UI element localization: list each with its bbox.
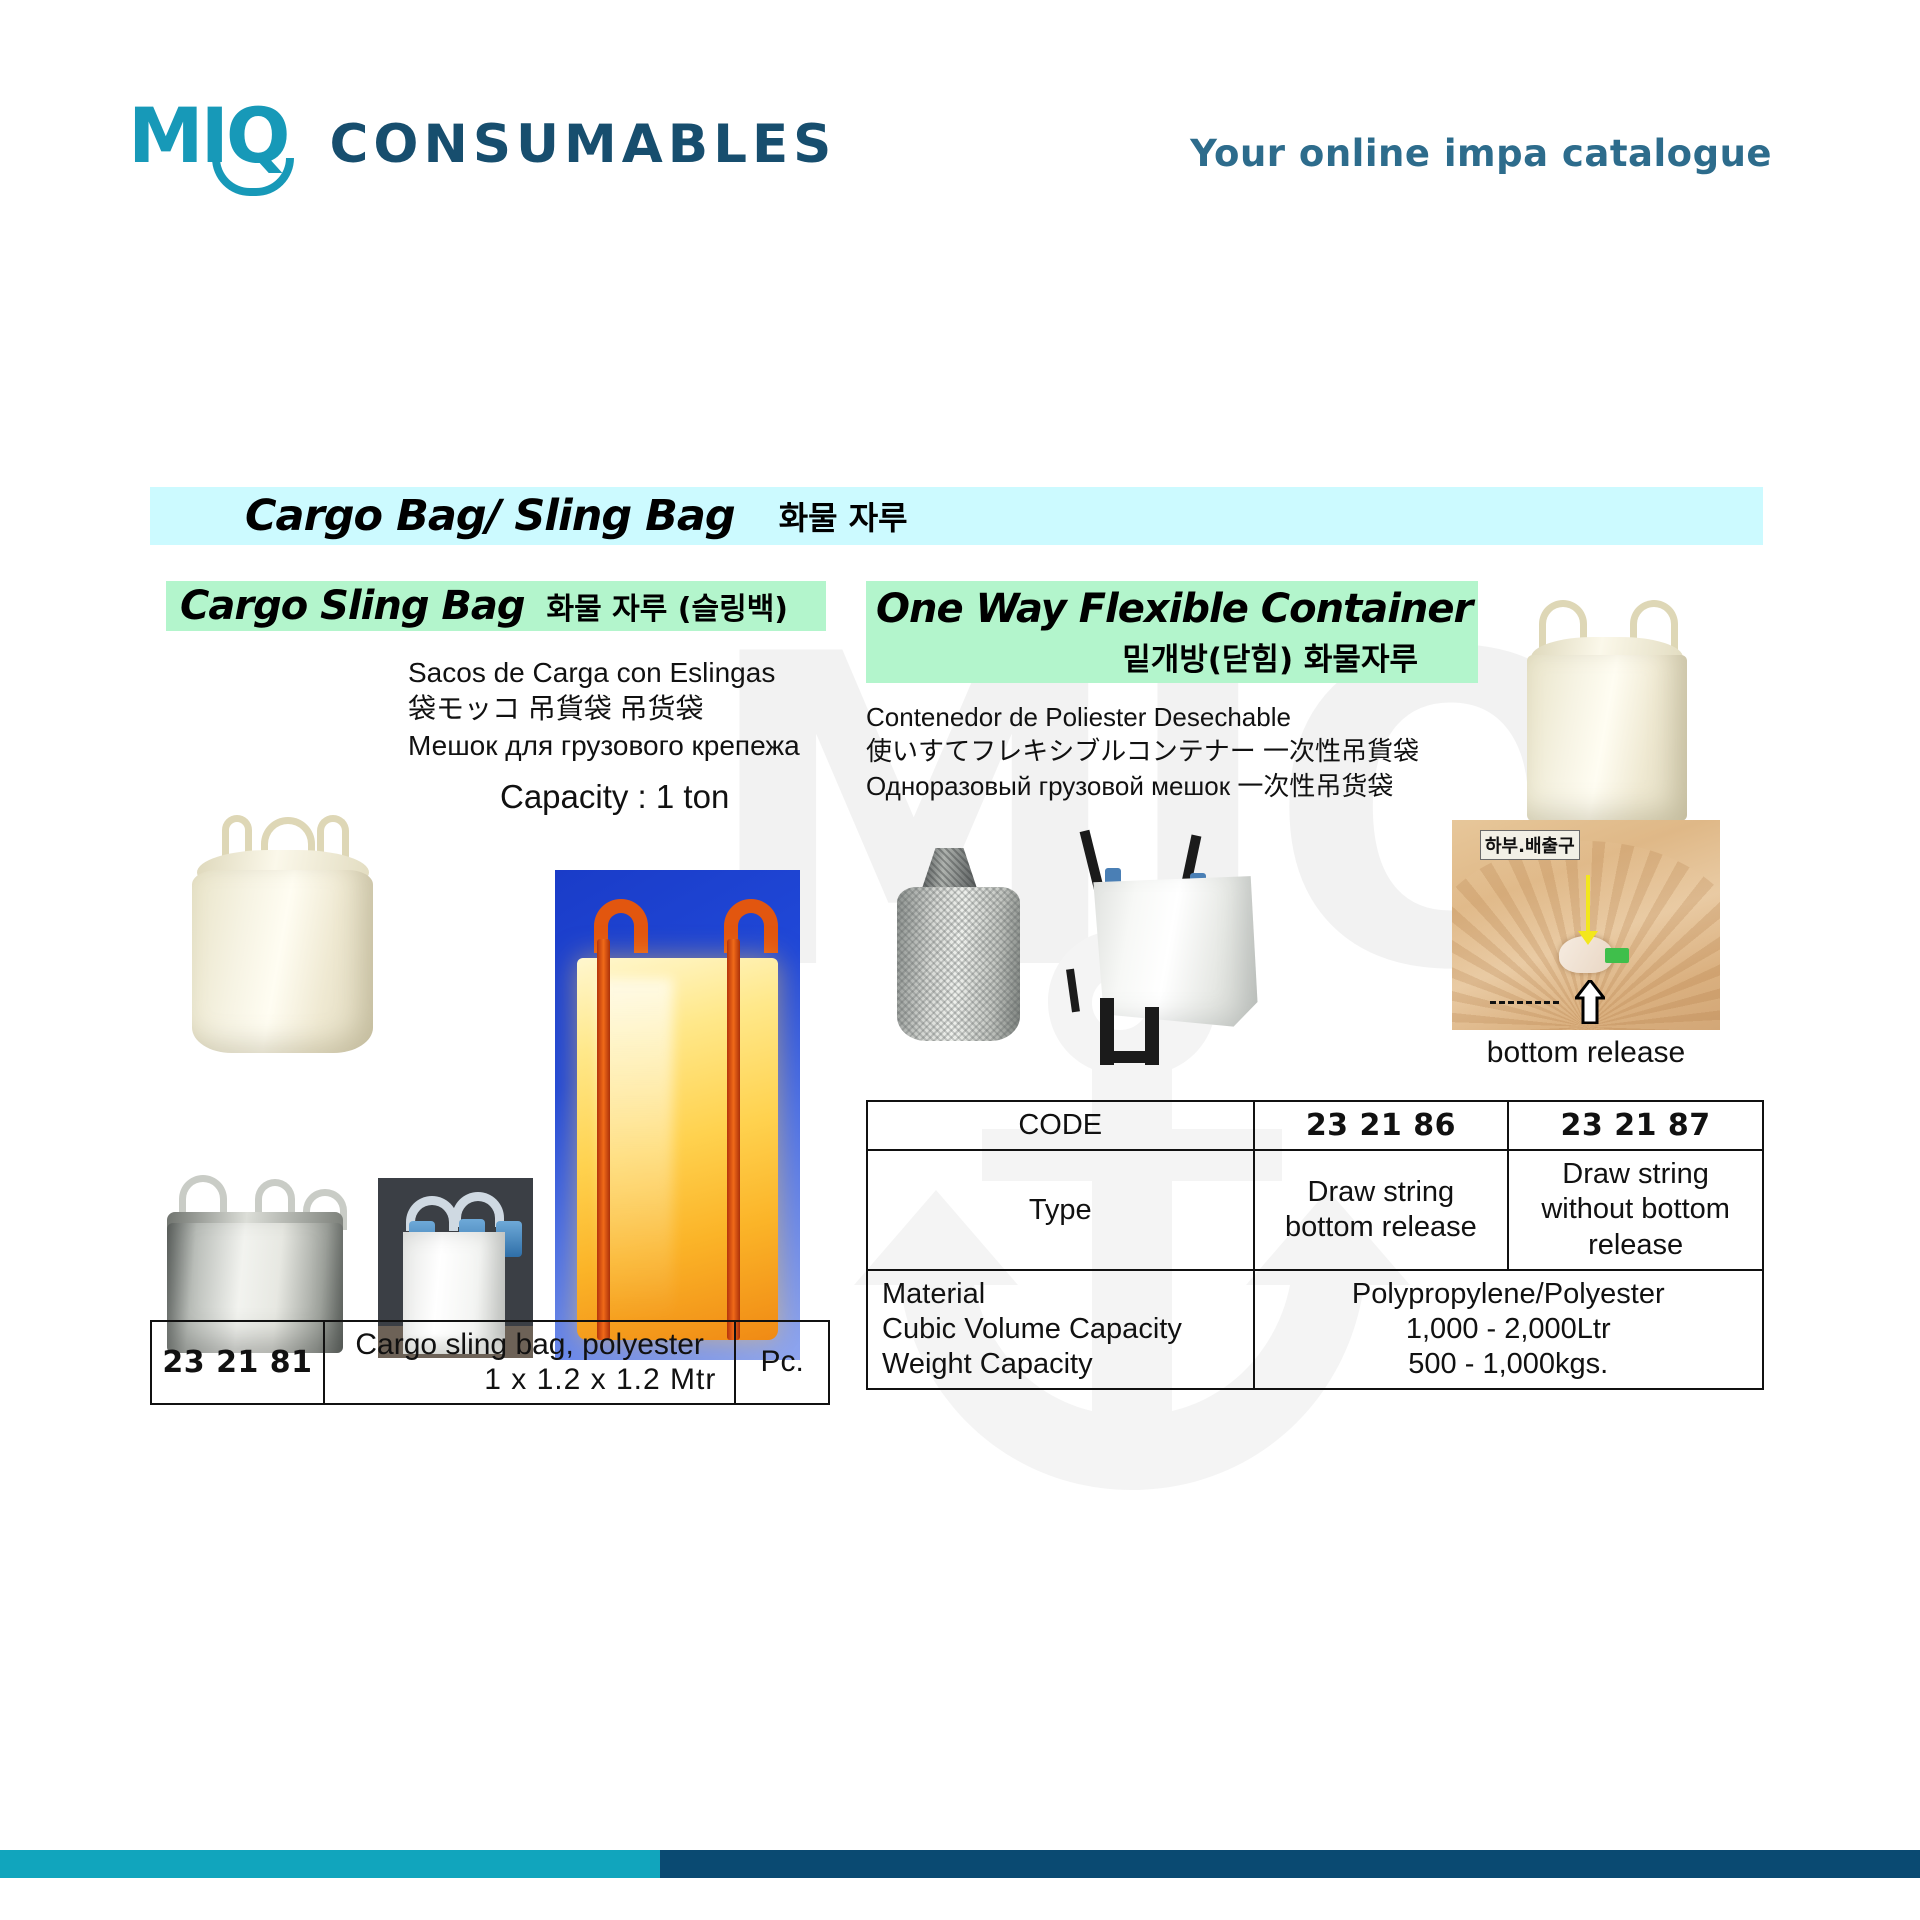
page-footer-bar [0,1850,1920,1878]
photo-cream-fibc-bag [1512,600,1702,830]
type-row-label: Type [867,1150,1254,1270]
item-unit: Pc. [735,1321,829,1404]
page-header: MIQ CONSUMABLES Your online impa catalog… [0,0,1920,300]
release-photo-korean-label: 하부.배출구 [1480,830,1580,860]
table-row: CODE 23 21 86 23 21 87 [867,1101,1763,1150]
photo-woven-round-bag [885,830,1035,1050]
section-banner-cargo-bag: Cargo Bag/ Sling Bag 화물 자루 [150,487,1763,545]
up-arrow-icon [1575,980,1605,1024]
dashed-line [1490,1001,1560,1004]
item-description-line2: 1 x 1.2 x 1.2 Mtr [333,1362,726,1397]
code-cell-2: 23 21 87 [1508,1101,1763,1150]
left-lang-ja-zh: 袋モッコ 吊貨袋 吊货袋 [408,691,838,727]
item-description-line1: Cargo sling bag, polyester [355,1328,704,1361]
logo-wordmark: CONSUMABLES [330,114,837,175]
logo-smile-icon [212,158,294,196]
right-lang-es: Contenedor de Poliester Desechable [866,700,1466,734]
spec-label-weight: Weight Capacity [882,1347,1245,1382]
table-row: 23 21 81 Cargo sling bag, polyester 1 x … [151,1321,829,1404]
photo-bottom-release: 하부.배출구 [1452,820,1720,1030]
item-description: Cargo sling bag, polyester 1 x 1.2 x 1.2… [324,1321,735,1404]
code-cell-1: 23 21 86 [1254,1101,1509,1150]
section-title-ko: 화물 자루 [779,493,908,539]
photo-orange-sling-bag [555,870,800,1360]
right-product-title-en: One Way Flexible Container [876,586,1472,632]
table-row: Material Cubic Volume Capacity Weight Ca… [867,1270,1763,1388]
section-title-en: Cargo Bag/ Sling Bag [245,491,735,541]
left-lang-es: Sacos de Carga con Eslingas [408,655,838,691]
left-product-title-en: Cargo Sling Bag [180,583,525,629]
spec-value-weight: 500 - 1,000kgs. [1263,1347,1754,1382]
product-banner-cargo-sling-bag: Cargo Sling Bag 화물 자루 (슬링백) [166,581,826,631]
cargo-sling-bag-item-table: 23 21 81 Cargo sling bag, polyester 1 x … [150,1320,830,1405]
header-tagline: Your online impa catalogue [1190,132,1772,175]
miq-logo[interactable]: MIQ CONSUMABLES [128,100,836,175]
green-tie-clip [1605,948,1629,963]
table-row: Type Draw string bottom release Draw str… [867,1150,1763,1270]
photo-cream-sling-bag [175,815,390,1065]
spec-label-material: Material [882,1277,1245,1312]
right-lang-ru-zh: Одноразовый грузовой мешок 一次性吊货袋 [866,769,1466,803]
left-product-capacity: Capacity : 1 ton [500,778,729,816]
item-code: 23 21 81 [151,1321,324,1404]
one-way-flexible-container-spec-table: CODE 23 21 86 23 21 87 Type Draw string … [866,1100,1764,1390]
spec-labels-cell: Material Cubic Volume Capacity Weight Ca… [867,1270,1254,1388]
photo-bag-on-forklift [1055,825,1280,1065]
spec-value-material: Polypropylene/Polyester [1263,1277,1754,1312]
right-lang-ja-zh: 使いすてフレキシブルコンテナー 一次性吊貨袋 [866,734,1466,768]
footer-navy-segment [660,1850,1920,1878]
code-row-label: CODE [867,1101,1254,1150]
footer-cyan-segment [0,1850,660,1878]
right-product-title-ko: 밑개방(닫힘) 화물자루 [1122,634,1418,679]
type-cell-2: Draw string without bottom release [1508,1150,1763,1270]
bottom-release-caption: bottom release [1452,1036,1720,1070]
right-product-translations: Contenedor de Poliester Desechable 使いすてフ… [866,700,1466,803]
left-product-title-ko: 화물 자루 (슬링백) [547,584,789,628]
left-lang-ru: Мешок для грузового крепежа [408,728,838,764]
left-product-translations: Sacos de Carga con Eslingas 袋モッコ 吊貨袋 吊货袋… [408,655,838,764]
type-cell-1: Draw string bottom release [1254,1150,1509,1270]
spec-values-cell: Polypropylene/Polyester 1,000 - 2,000Ltr… [1254,1270,1763,1388]
spec-label-cubic-volume: Cubic Volume Capacity [882,1312,1245,1347]
product-banner-one-way-flexible-container: One Way Flexible Container 밑개방(닫힘) 화물자루 [866,581,1478,683]
yellow-arrow-icon [1586,875,1590,934]
spec-value-cubic-volume: 1,000 - 2,000Ltr [1263,1312,1754,1347]
